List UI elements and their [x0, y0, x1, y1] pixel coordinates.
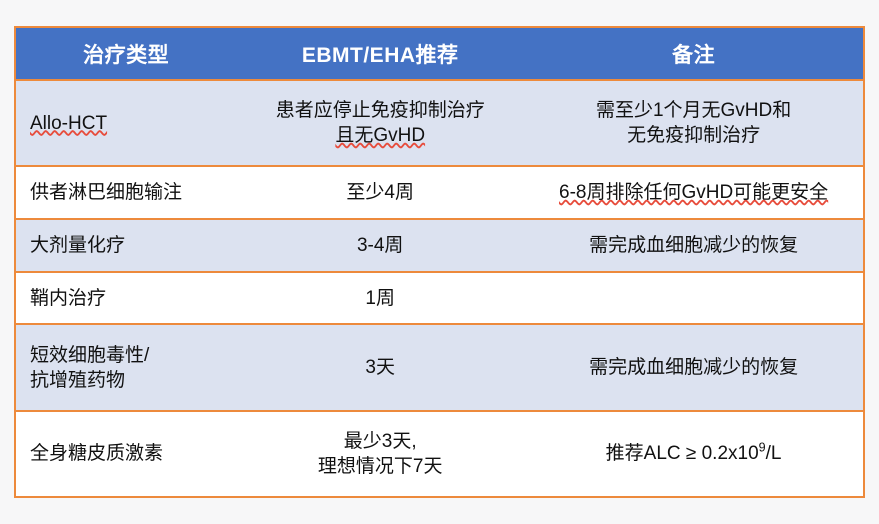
note-line-2: 无免疫抑制治疗	[534, 123, 853, 148]
cell-note: 6-8周排除任何GvHD可能更安全	[524, 166, 863, 219]
treatment-type-line-1: 短效细胞毒性/	[30, 343, 226, 368]
cell-treatment-type: Allo-HCT	[16, 80, 236, 166]
cell-note	[524, 272, 863, 325]
recommendation-line-1: 患者应停止免疫抑制治疗	[246, 98, 514, 123]
recommendation-line-1: 1周	[246, 286, 514, 311]
note-alc-exponent: 9	[759, 441, 766, 455]
recommendation-line-2: 理想情况下7天	[246, 454, 514, 479]
cell-note: 需至少1个月无GvHD和 无免疫抑制治疗	[524, 80, 863, 166]
note-alc-suffix: /L	[766, 443, 782, 464]
cell-treatment-type: 大剂量化疗	[16, 219, 236, 272]
note-alc-threshold: 推荐ALC ≥ 0.2x109/L	[534, 441, 853, 466]
table-row: 短效细胞毒性/ 抗增殖药物 3天 需完成血细胞减少的恢复	[16, 324, 863, 410]
cell-note: 推荐ALC ≥ 0.2x109/L	[524, 411, 863, 496]
recommendation-line-1: 至少4周	[246, 180, 514, 205]
cell-recommendation: 3天	[236, 324, 524, 410]
treatment-type-text: 鞘内治疗	[30, 286, 226, 311]
treatment-type-line-2: 抗增殖药物	[30, 368, 226, 393]
cell-treatment-type: 短效细胞毒性/ 抗增殖药物	[16, 324, 236, 410]
cell-treatment-type: 全身糖皮质激素	[16, 411, 236, 496]
cell-recommendation: 至少4周	[236, 166, 524, 219]
note-line-1: 6-8周排除任何GvHD可能更安全	[534, 180, 853, 205]
column-header-treatment-type: 治疗类型	[16, 28, 236, 80]
note-line-1: 需完成血细胞减少的恢复	[534, 233, 853, 258]
table-row: 大剂量化疗 3-4周 需完成血细胞减少的恢复	[16, 219, 863, 272]
page-root: { "theme": { "page_background": "#F7F7F8…	[0, 0, 879, 524]
table-row: 供者淋巴细胞输注 至少4周 6-8周排除任何GvHD可能更安全	[16, 166, 863, 219]
cell-recommendation: 3-4周	[236, 219, 524, 272]
column-header-recommendation: EBMT/EHA推荐	[236, 28, 524, 80]
treatment-type-text: 供者淋巴细胞输注	[30, 180, 226, 205]
recommendation-line-1: 3天	[246, 355, 514, 380]
recommendation-table-container: 治疗类型 EBMT/EHA推荐 备注 Allo-HCT 患者应停止免疫抑制治疗 …	[14, 26, 865, 498]
cell-note: 需完成血细胞减少的恢复	[524, 219, 863, 272]
header-row: 治疗类型 EBMT/EHA推荐 备注	[16, 28, 863, 80]
recommendation-table: 治疗类型 EBMT/EHA推荐 备注 Allo-HCT 患者应停止免疫抑制治疗 …	[16, 28, 863, 496]
cell-treatment-type: 鞘内治疗	[16, 272, 236, 325]
treatment-type-text: 全身糖皮质激素	[30, 441, 226, 466]
column-header-note: 备注	[524, 28, 863, 80]
recommendation-line-2: 且无GvHD	[246, 123, 514, 148]
note-line-1: 需完成血细胞减少的恢复	[534, 355, 853, 380]
cell-treatment-type: 供者淋巴细胞输注	[16, 166, 236, 219]
table-row: 鞘内治疗 1周	[16, 272, 863, 325]
table-row: Allo-HCT 患者应停止免疫抑制治疗 且无GvHD 需至少1个月无GvHD和…	[16, 80, 863, 166]
cell-recommendation: 患者应停止免疫抑制治疗 且无GvHD	[236, 80, 524, 166]
cell-recommendation: 最少3天, 理想情况下7天	[236, 411, 524, 496]
table-body: Allo-HCT 患者应停止免疫抑制治疗 且无GvHD 需至少1个月无GvHD和…	[16, 80, 863, 496]
table-row: 全身糖皮质激素 最少3天, 理想情况下7天 推荐ALC ≥ 0.2x109/L	[16, 411, 863, 496]
note-line-1: 需至少1个月无GvHD和	[534, 98, 853, 123]
recommendation-line-1: 最少3天,	[246, 429, 514, 454]
treatment-type-text: Allo-HCT	[30, 111, 226, 136]
treatment-type-text: 大剂量化疗	[30, 233, 226, 258]
table-header: 治疗类型 EBMT/EHA推荐 备注	[16, 28, 863, 80]
cell-note: 需完成血细胞减少的恢复	[524, 324, 863, 410]
note-alc-prefix: 推荐ALC ≥ 0.2x10	[606, 443, 759, 464]
recommendation-line-1: 3-4周	[246, 233, 514, 258]
cell-recommendation: 1周	[236, 272, 524, 325]
